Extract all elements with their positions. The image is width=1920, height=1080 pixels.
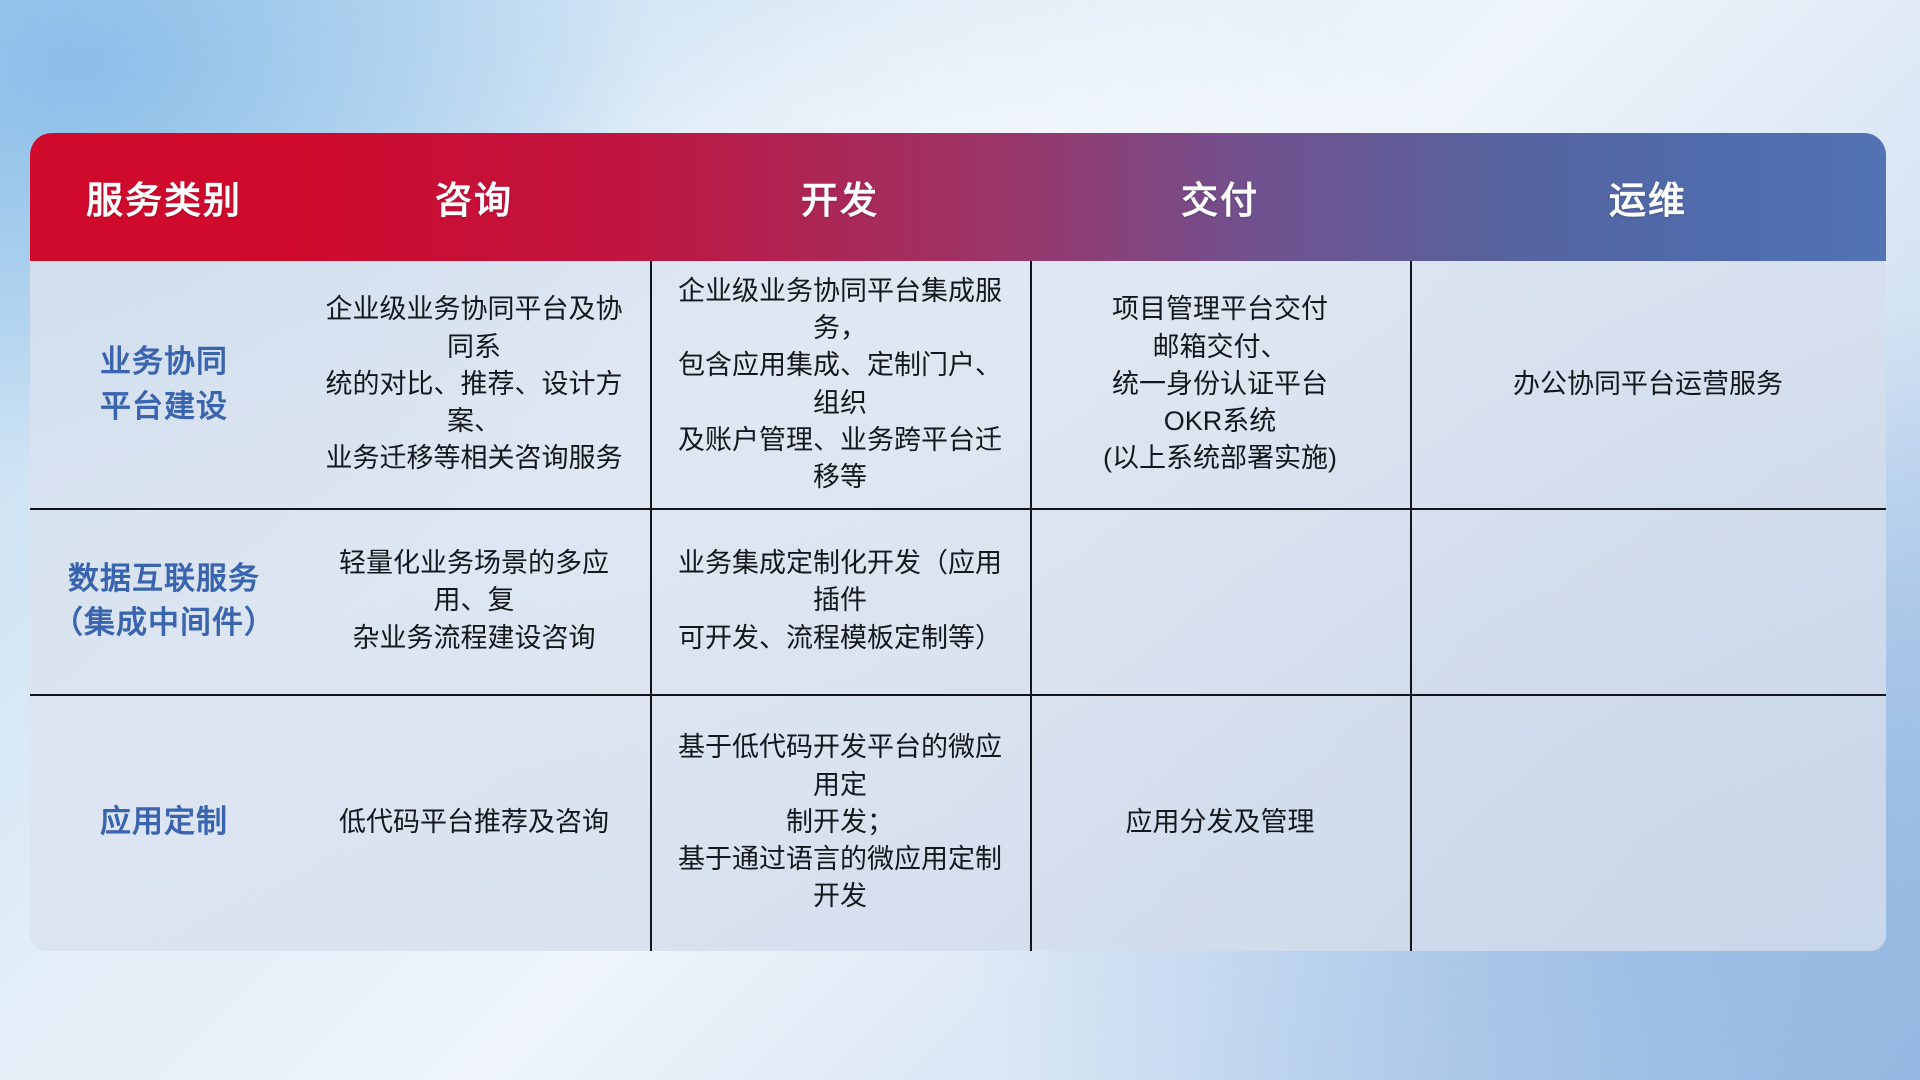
column-header-category-label: 服务类别 xyxy=(86,170,242,224)
table-row: 应用定制 低代码平台推荐及咨询 基于低代码开发平台的微应用定 制开发； 基于通过… xyxy=(30,694,1886,951)
cell-category: 数据互联服务 （集成中间件） xyxy=(30,508,298,694)
cell-text: 数据互联服务 （集成中间件） xyxy=(52,557,276,645)
column-header-development-label: 开发 xyxy=(801,170,879,224)
cell-text: 轻量化业务场景的多应用、复 杂业务流程建设咨询 xyxy=(314,545,634,657)
column-header-category: 服务类别 xyxy=(30,133,298,261)
cell-operations xyxy=(1410,508,1886,694)
table-row: 业务协同 平台建设 企业级业务协同平台及协同系 统的对比、推荐、设计方案、 业务… xyxy=(30,261,1886,508)
column-header-consulting: 咨询 xyxy=(298,133,650,261)
cell-text: 基于低代码开发平台的微应用定 制开发； 基于通过语言的微应用定制开发 xyxy=(666,729,1014,915)
cell-development: 业务集成定制化开发（应用插件 可开发、流程模板定制等） xyxy=(650,508,1030,694)
cell-operations: 办公协同平台运营服务 xyxy=(1410,261,1886,508)
cell-development: 企业级业务协同平台集成服务， 包含应用集成、定制门户、组织 及账户管理、业务跨平… xyxy=(650,261,1030,508)
column-header-delivery: 交付 xyxy=(1030,133,1410,261)
service-matrix-table: 服务类别 咨询 开发 交付 运维 业务协同 平台建设 企业级业务协同 xyxy=(30,133,1886,951)
cell-development: 基于低代码开发平台的微应用定 制开发； 基于通过语言的微应用定制开发 xyxy=(650,694,1030,951)
column-header-operations: 运维 xyxy=(1410,133,1886,261)
cell-delivery xyxy=(1030,508,1410,694)
cell-category: 应用定制 xyxy=(30,694,298,951)
cell-text: 企业级业务协同平台集成服务， 包含应用集成、定制门户、组织 及账户管理、业务跨平… xyxy=(666,273,1014,497)
cell-delivery: 项目管理平台交付 邮箱交付、 统一身份认证平台 OKR系统 (以上系统部署实施) xyxy=(1030,261,1410,508)
cell-delivery: 应用分发及管理 xyxy=(1030,694,1410,951)
cell-operations xyxy=(1410,694,1886,951)
cell-consulting: 低代码平台推荐及咨询 xyxy=(298,694,650,951)
column-header-operations-label: 运维 xyxy=(1609,170,1687,224)
cell-text: 企业级业务协同平台及协同系 统的对比、推荐、设计方案、 业务迁移等相关咨询服务 xyxy=(314,291,634,477)
column-header-development: 开发 xyxy=(650,133,1030,261)
cell-category: 业务协同 平台建设 xyxy=(30,261,298,508)
table-body: 业务协同 平台建设 企业级业务协同平台及协同系 统的对比、推荐、设计方案、 业务… xyxy=(30,261,1886,951)
cell-text: 项目管理平台交付 邮箱交付、 统一身份认证平台 OKR系统 (以上系统部署实施) xyxy=(1103,291,1337,477)
cell-consulting: 轻量化业务场景的多应用、复 杂业务流程建设咨询 xyxy=(298,508,650,694)
column-header-consulting-label: 咨询 xyxy=(435,170,513,224)
table-row: 数据互联服务 （集成中间件） 轻量化业务场景的多应用、复 杂业务流程建设咨询 业… xyxy=(30,508,1886,694)
column-header-delivery-label: 交付 xyxy=(1181,170,1259,224)
slide-canvas: 服务类别 咨询 开发 交付 运维 业务协同 平台建设 企业级业务协同 xyxy=(0,0,1920,1080)
cell-text: 办公协同平台运营服务 xyxy=(1513,366,1783,403)
cell-text: 业务集成定制化开发（应用插件 可开发、流程模板定制等） xyxy=(666,545,1014,657)
table-header-row: 服务类别 咨询 开发 交付 运维 xyxy=(30,133,1886,261)
cell-text: 应用定制 xyxy=(100,800,228,844)
cell-consulting: 企业级业务协同平台及协同系 统的对比、推荐、设计方案、 业务迁移等相关咨询服务 xyxy=(298,261,650,508)
cell-text: 业务协同 平台建设 xyxy=(100,340,228,428)
cell-text: 低代码平台推荐及咨询 xyxy=(339,804,609,841)
cell-text: 应用分发及管理 xyxy=(1126,804,1315,841)
